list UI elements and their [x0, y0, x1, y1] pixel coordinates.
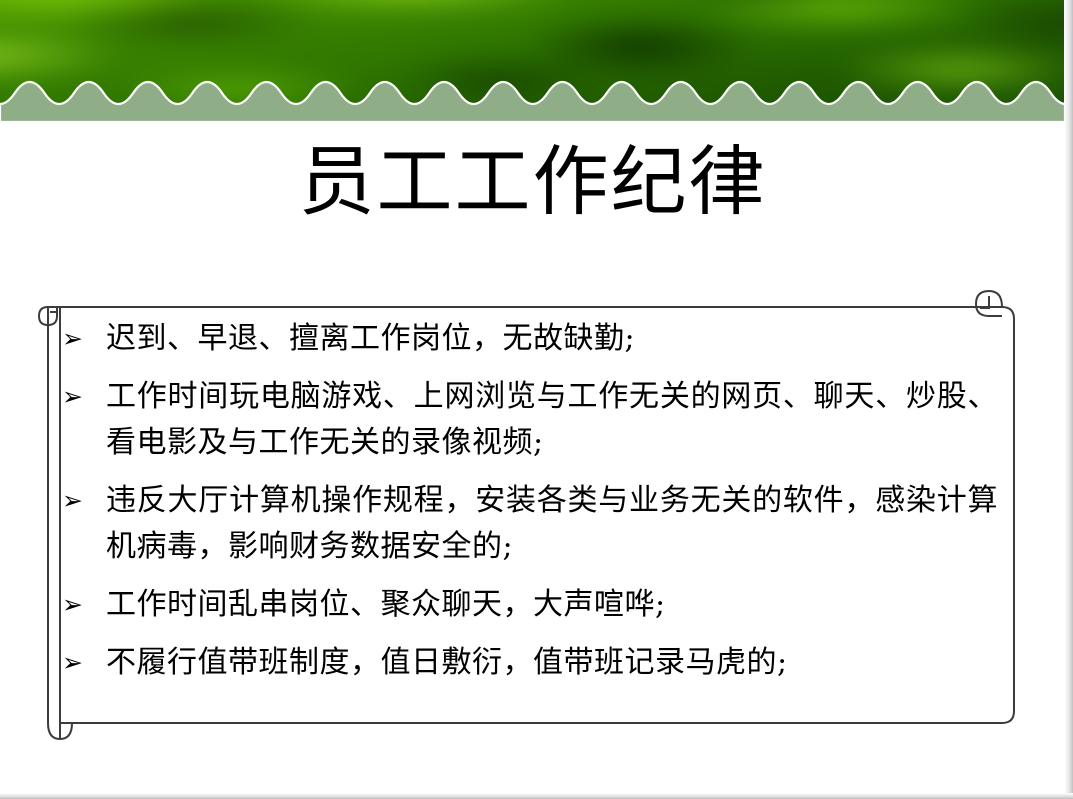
slide-canvas: 员工工作纪律 ➢ 迟到 [0, 0, 1073, 799]
slide-right-gutter [1064, 0, 1073, 799]
list-item-text: 工作时间乱串岗位、聚众聊天，大声喧哗; [106, 582, 998, 628]
list-item: ➢ 迟到、早退、擅离工作岗位，无故缺勤; [58, 316, 998, 362]
arrow-bullet-icon: ➢ [58, 316, 106, 362]
list-item-text: 不履行值带班制度，值日敷衍，值带班记录马虎的; [106, 640, 998, 686]
slide-bottom-gutter [0, 793, 1073, 799]
scallop-svg [0, 78, 1065, 122]
header-banner [0, 0, 1065, 122]
arrow-bullet-icon: ➢ [58, 582, 106, 628]
list-item: ➢ 不履行值带班制度，值日敷衍，值带班记录马虎的; [58, 640, 998, 686]
discipline-bullet-list: ➢ 迟到、早退、擅离工作岗位，无故缺勤; ➢ 工作时间玩电脑游戏、上网浏览与工作… [58, 316, 998, 686]
arrow-bullet-icon: ➢ [58, 374, 106, 420]
list-item-text: 违反大厅计算机操作规程，安装各类与业务无关的软件，感染计算机病毒，影响财务数据安… [106, 478, 998, 570]
list-item: ➢ 违反大厅计算机操作规程，安装各类与业务无关的软件，感染计算机病毒，影响财务数… [58, 478, 998, 570]
list-item: ➢ 工作时间玩电脑游戏、上网浏览与工作无关的网页、聊天、炒股、看电影及与工作无关… [58, 374, 998, 466]
list-item: ➢ 工作时间乱串岗位、聚众聊天，大声喧哗; [58, 582, 998, 628]
scalloped-edge-band-icon [0, 78, 1065, 122]
arrow-bullet-icon: ➢ [58, 640, 106, 686]
list-item-text: 工作时间玩电脑游戏、上网浏览与工作无关的网页、聊天、炒股、看电影及与工作无关的录… [106, 374, 998, 466]
list-item-text: 迟到、早退、擅离工作岗位，无故缺勤; [106, 316, 998, 362]
content-scroll-box: ➢ 迟到、早退、擅离工作岗位，无故缺勤; ➢ 工作时间玩电脑游戏、上网浏览与工作… [14, 286, 1022, 746]
arrow-bullet-icon: ➢ [58, 478, 106, 524]
page-title: 员工工作纪律 [0, 134, 1065, 230]
